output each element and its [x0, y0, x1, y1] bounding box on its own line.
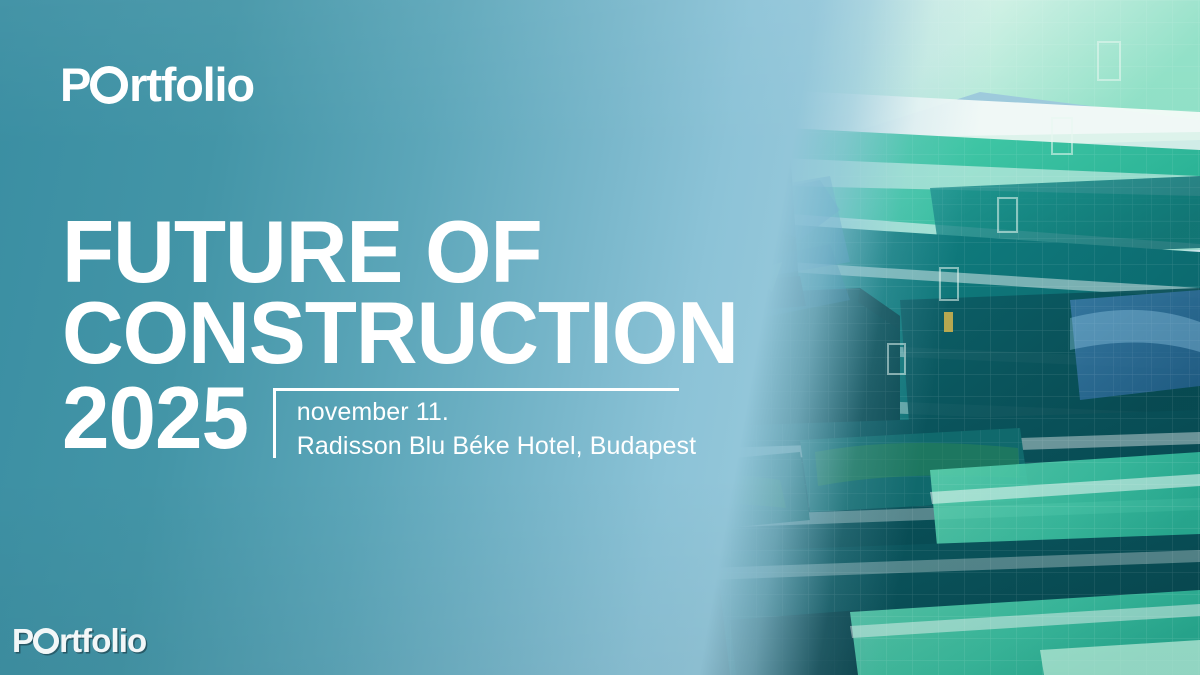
divider-vertical: [273, 388, 276, 458]
watermark-suffix: rtfolio: [59, 624, 146, 657]
divider-horizontal: [273, 388, 679, 391]
event-venue: Radisson Blu Béke Hotel, Budapest: [297, 429, 696, 463]
ring-o-icon: [33, 628, 59, 654]
ring-o-icon: [90, 66, 128, 104]
event-banner: P rtfolio FUTURE OF CONSTRUCTION 2025 no…: [0, 0, 1200, 675]
logo-wordmark: P rtfolio: [60, 61, 254, 108]
event-meta-row: 2025 november 11. Radisson Blu Béke Hote…: [62, 378, 696, 460]
detail-bracket: november 11. Radisson Blu Béke Hotel, Bu…: [273, 378, 696, 460]
watermark-prefix: P: [12, 624, 33, 657]
event-date: november 11.: [297, 386, 696, 429]
logo-prefix: P: [60, 61, 90, 108]
hero-line-1: FUTURE OF: [62, 212, 935, 293]
logo-suffix: rtfolio: [129, 61, 254, 108]
watermark-wordmark: P rtfolio: [12, 624, 146, 657]
event-year: 2025: [62, 378, 248, 459]
hero-title: FUTURE OF CONSTRUCTION: [62, 212, 962, 374]
portfolio-logo[interactable]: P rtfolio: [60, 56, 254, 112]
portfolio-watermark: P rtfolio: [12, 624, 146, 657]
hero-line-2: CONSTRUCTION: [62, 293, 935, 374]
